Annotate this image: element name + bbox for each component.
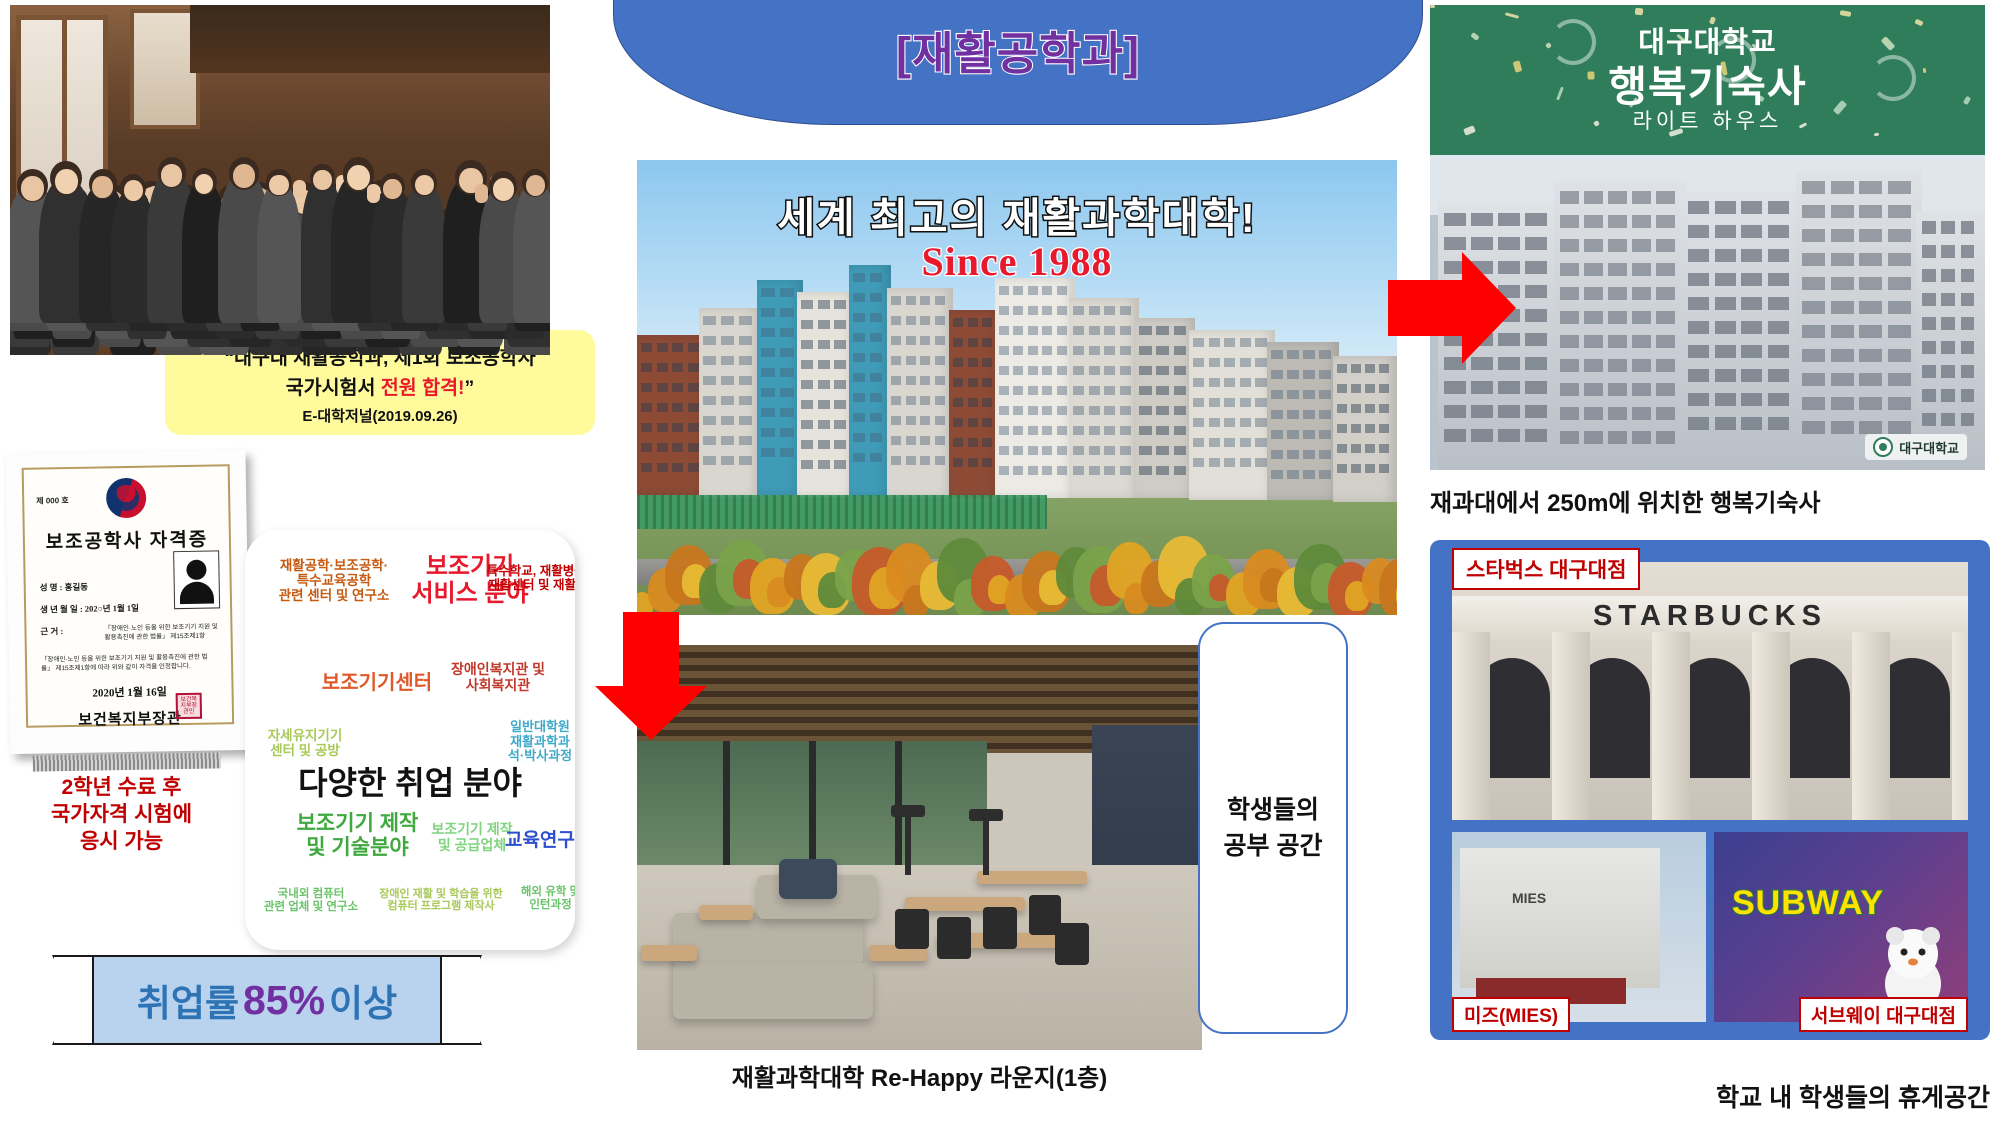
building-window	[853, 393, 865, 402]
word-cloud-center-label: 다양한 취업 분야	[245, 766, 575, 802]
tower-window	[1768, 225, 1789, 238]
tower-window	[1584, 287, 1603, 300]
tower-window	[1560, 263, 1579, 276]
tower-window	[1608, 239, 1627, 252]
storefront-column	[1952, 632, 1968, 820]
building-window	[834, 360, 846, 369]
building-window	[1013, 446, 1023, 455]
lounge-chair	[983, 907, 1017, 949]
building-window	[1028, 366, 1038, 375]
building-window	[1104, 326, 1115, 335]
building-window	[999, 426, 1009, 435]
building-window	[780, 368, 794, 377]
tower-window	[1525, 357, 1547, 370]
building-window	[818, 380, 830, 389]
building-window	[1255, 438, 1266, 447]
tower-window	[1656, 407, 1675, 420]
building-window	[1379, 364, 1389, 373]
tower-window	[1608, 263, 1627, 276]
building-window	[935, 376, 945, 385]
lounge-lamp-shade	[969, 809, 1003, 821]
tower-window	[1525, 429, 1547, 442]
building-window	[906, 316, 916, 325]
tower-window	[1632, 335, 1651, 348]
tower-window	[1608, 335, 1627, 348]
building-window	[853, 373, 865, 382]
tower-window	[1560, 287, 1579, 300]
tower-window	[1961, 293, 1975, 306]
storefront-column	[1552, 632, 1590, 820]
building-window	[1104, 446, 1115, 455]
building-window	[891, 336, 901, 345]
tower-window	[1831, 253, 1854, 266]
building-window	[999, 406, 1009, 415]
building-window	[688, 463, 699, 472]
tower-window	[1831, 277, 1854, 290]
building-window	[853, 333, 865, 342]
building-window	[688, 423, 699, 432]
building-window	[818, 320, 830, 329]
building-window	[1271, 470, 1283, 479]
campus-trees	[637, 495, 1397, 615]
building-window	[1042, 366, 1052, 375]
tower-window	[1922, 293, 1936, 306]
tower-window	[1941, 389, 1955, 402]
building-window	[1156, 426, 1169, 435]
building-window	[968, 458, 978, 467]
tower-window	[1656, 335, 1675, 348]
person-face	[233, 164, 255, 188]
certificate-barcode	[33, 752, 221, 771]
tower-window	[1802, 229, 1825, 242]
building-window	[1013, 366, 1023, 375]
building-window	[1139, 466, 1152, 475]
tower-window	[1859, 301, 1882, 314]
person-head	[229, 157, 259, 189]
building-window	[739, 316, 752, 325]
person-head	[266, 169, 292, 197]
building-window	[1224, 458, 1235, 467]
building-window	[1089, 326, 1100, 335]
building-window	[1255, 338, 1266, 347]
tower-window	[1831, 205, 1854, 218]
tower-window	[1741, 201, 1762, 214]
building-window	[1240, 418, 1251, 427]
building-window	[1042, 306, 1052, 315]
tower-window	[1688, 345, 1709, 358]
tower-window	[1560, 239, 1579, 252]
tower-window	[1802, 205, 1825, 218]
building-window	[657, 343, 668, 352]
study-space-callout: 학생들의 공부 공간	[1198, 622, 1348, 1034]
building-window	[657, 463, 668, 472]
person-face	[124, 180, 143, 201]
tower-window	[1715, 369, 1736, 382]
person-face	[526, 175, 545, 196]
tower-window	[1859, 205, 1882, 218]
tower-window	[1584, 431, 1603, 444]
tower-window	[1941, 365, 1955, 378]
building-window	[999, 326, 1009, 335]
person-head	[17, 169, 48, 202]
building-window	[1209, 398, 1220, 407]
building-window	[721, 456, 734, 465]
building-window	[906, 336, 916, 345]
person-face	[493, 178, 514, 201]
building-window	[870, 413, 882, 422]
person-hand	[367, 184, 380, 203]
person-face	[21, 176, 44, 201]
building-window	[1337, 404, 1347, 413]
building-window	[1209, 458, 1220, 467]
tower-window	[1525, 285, 1547, 298]
building-window	[1337, 444, 1347, 453]
word-cloud-item: 교육연구 분야	[485, 830, 575, 851]
building-window	[1365, 404, 1375, 413]
building-window	[641, 363, 652, 372]
building-window	[1073, 446, 1084, 455]
building-window	[672, 443, 683, 452]
building-window	[1255, 358, 1266, 367]
building-window	[739, 456, 752, 465]
tower-window	[1741, 249, 1762, 262]
tower-window	[1859, 181, 1882, 194]
government-emblem-icon	[106, 478, 147, 519]
building-window	[1057, 366, 1067, 375]
building-window	[870, 453, 882, 462]
tower-window	[1608, 359, 1627, 372]
tower-window	[1498, 237, 1520, 250]
building-window	[1193, 378, 1204, 387]
building-window	[1013, 466, 1023, 475]
building-window	[657, 363, 668, 372]
campus-building	[1267, 342, 1339, 500]
building-window	[1271, 350, 1283, 359]
campus-photo: 세계 최고의 재활과학대학! Since 1988	[637, 160, 1397, 615]
tower-window	[1715, 417, 1736, 430]
building-window	[1156, 446, 1169, 455]
building-window	[739, 376, 752, 385]
building-window	[1042, 386, 1052, 395]
tower-window	[1922, 365, 1936, 378]
tower-window	[1768, 273, 1789, 286]
building-window	[641, 403, 652, 412]
building-window	[953, 338, 963, 347]
building-window	[739, 356, 752, 365]
university-logo-mark-icon	[1873, 437, 1893, 457]
building-window	[1073, 366, 1084, 375]
tower-window	[1584, 335, 1603, 348]
building-window	[1271, 430, 1283, 439]
building-window	[1287, 410, 1299, 419]
building-window	[739, 416, 752, 425]
building-window	[1042, 466, 1052, 475]
tower-window	[1831, 349, 1854, 362]
building-window	[982, 398, 992, 407]
building-window	[891, 296, 901, 305]
tower-window	[1560, 407, 1579, 420]
tower-window	[1715, 297, 1736, 310]
building-window	[1224, 398, 1235, 407]
building-window	[1209, 378, 1220, 387]
news-line-2: 국가시험서 전원 합격!”	[286, 371, 475, 400]
building-window	[982, 458, 992, 467]
tower-window	[1859, 277, 1882, 290]
tower-window	[1859, 349, 1882, 362]
building-window	[1240, 458, 1251, 467]
building-window	[982, 338, 992, 347]
tower-window	[1741, 393, 1762, 406]
building-window	[1057, 306, 1067, 315]
lounge-mullion-1	[723, 741, 730, 871]
building-window	[641, 463, 652, 472]
building-window	[1120, 426, 1131, 435]
building-window	[1224, 418, 1235, 427]
building-window	[1089, 466, 1100, 475]
tower-window	[1688, 201, 1709, 214]
building-window	[834, 400, 846, 409]
building-window	[1120, 406, 1131, 415]
tower-window	[1608, 407, 1627, 420]
person-face	[383, 179, 402, 199]
building-window	[999, 306, 1009, 315]
building-window	[761, 328, 775, 337]
building-window	[1028, 346, 1038, 355]
building-window	[688, 443, 699, 452]
tower-window	[1632, 383, 1651, 396]
building-window	[761, 308, 775, 317]
tower-window	[1741, 225, 1762, 238]
building-window	[1271, 450, 1283, 459]
tower-window	[1608, 191, 1627, 204]
building-window	[780, 428, 794, 437]
lounge-lamp-shade	[891, 805, 925, 817]
tower-window	[1888, 181, 1911, 194]
tower-window	[1741, 321, 1762, 334]
building-window	[1057, 346, 1067, 355]
employment-suffix: 이상	[329, 973, 397, 1027]
tower-window	[1715, 225, 1736, 238]
building-window	[1351, 424, 1361, 433]
confetti-piece	[1430, 5, 1435, 8]
building-window	[1057, 386, 1067, 395]
tower-window	[1525, 309, 1547, 322]
campus-building	[637, 335, 707, 495]
building-window	[1287, 390, 1299, 399]
tower-window	[1888, 373, 1911, 386]
building-window	[641, 343, 652, 352]
building-window	[672, 343, 683, 352]
building-window	[1337, 364, 1347, 373]
building-window	[1193, 458, 1204, 467]
building-window	[1287, 470, 1299, 479]
tower-window	[1560, 311, 1579, 324]
building-window	[1104, 346, 1115, 355]
building-window	[834, 420, 846, 429]
building-window	[906, 376, 916, 385]
building-window	[1224, 358, 1235, 367]
building-window	[968, 398, 978, 407]
building-window	[1319, 350, 1331, 359]
person-hand	[293, 180, 306, 199]
building-window	[1365, 384, 1375, 393]
certificate-caption: 2학년 수료 후 국가자격 시험에 응시 가능	[14, 775, 229, 856]
tower-window	[1632, 191, 1651, 204]
storefront-column	[1752, 632, 1790, 820]
starbucks-wordmark: STARBUCKS	[1452, 600, 1968, 633]
tower-window	[1608, 383, 1627, 396]
person	[513, 183, 550, 323]
building-window	[761, 448, 775, 457]
tower-window	[1888, 277, 1911, 290]
title-banner: [재활공학과]	[613, 0, 1423, 125]
tower-window	[1888, 205, 1911, 218]
certificate-number: 제 000 호	[36, 495, 69, 507]
building-window	[688, 403, 699, 412]
building-window	[780, 328, 794, 337]
building-window	[1139, 366, 1152, 375]
tower-window	[1741, 273, 1762, 286]
building-window	[920, 396, 930, 405]
tower-window	[1608, 431, 1627, 444]
building-window	[891, 396, 901, 405]
person	[257, 183, 301, 323]
building-window	[1104, 406, 1115, 415]
building-window	[721, 336, 734, 345]
building-window	[672, 363, 683, 372]
building-window	[1120, 326, 1131, 335]
tower-window	[1859, 421, 1882, 434]
dormitory-tower	[1682, 191, 1800, 470]
building-window	[1156, 466, 1169, 475]
lounge-sofa	[673, 913, 863, 967]
building-window	[703, 416, 716, 425]
building-window	[920, 376, 930, 385]
building-window	[870, 293, 882, 302]
tower-window	[1632, 287, 1651, 300]
building-window	[906, 396, 916, 405]
tower-window	[1802, 349, 1825, 362]
tower-window	[1961, 221, 1975, 234]
building-window	[721, 416, 734, 425]
tower-window	[1961, 413, 1975, 426]
building-window	[761, 408, 775, 417]
building-window	[953, 318, 963, 327]
news-line-2-highlight: 전원 합격!	[381, 377, 465, 399]
building-window	[853, 433, 865, 442]
tower-window	[1741, 345, 1762, 358]
building-window	[1120, 446, 1131, 455]
building-window	[834, 460, 846, 469]
building-window	[1156, 406, 1169, 415]
building-window	[853, 453, 865, 462]
tower-window	[1715, 201, 1736, 214]
tower-window	[1632, 239, 1651, 252]
building-window	[801, 400, 813, 409]
building-window	[818, 400, 830, 409]
tower-window	[1525, 405, 1547, 418]
building-window	[906, 296, 916, 305]
tower-window	[1632, 311, 1651, 324]
lounge-lamp	[905, 813, 911, 875]
building-window	[1073, 306, 1084, 315]
tower-window	[1632, 407, 1651, 420]
tower-window	[1922, 389, 1936, 402]
building-window	[761, 368, 775, 377]
campus-building	[1135, 318, 1195, 498]
tower-window	[1888, 229, 1911, 242]
dormitory-photo: 대구대학교 행복기숙사 라이트 하우스 대구대학교	[1430, 5, 1985, 470]
building-window	[968, 338, 978, 347]
tower-window	[1741, 417, 1762, 430]
building-window	[870, 333, 882, 342]
tower-window	[1688, 273, 1709, 286]
news-line-2-suffix: ”	[465, 377, 475, 399]
building-window	[953, 418, 963, 427]
tower-window	[1471, 381, 1493, 394]
tower-window	[1715, 321, 1736, 334]
building-window	[1028, 466, 1038, 475]
tower-window	[1584, 191, 1603, 204]
building-window	[1120, 366, 1131, 375]
arrow-right-icon	[1388, 252, 1516, 364]
building-window	[935, 336, 945, 345]
building-window	[870, 433, 882, 442]
tower-window	[1560, 359, 1579, 372]
building-window	[1365, 444, 1375, 453]
tower-window	[1922, 341, 1936, 354]
building-window	[1089, 346, 1100, 355]
tower-window	[1888, 421, 1911, 434]
building-window	[1319, 470, 1331, 479]
building-window	[1351, 444, 1361, 453]
building-window	[1255, 418, 1266, 427]
building-window	[853, 293, 865, 302]
word-cloud-item: 일반대학원 재활과학과 석·박사과정	[485, 720, 575, 764]
person-face	[415, 175, 434, 196]
building-window	[1042, 426, 1052, 435]
tower-window	[1584, 263, 1603, 276]
building-window	[1193, 418, 1204, 427]
lounge-side-table	[699, 905, 753, 920]
building-window	[982, 438, 992, 447]
tower-window	[1802, 253, 1825, 266]
building-window	[801, 380, 813, 389]
tower-window	[1715, 393, 1736, 406]
tower-window	[1768, 297, 1789, 310]
building-window	[920, 356, 930, 365]
university-logo: 대구대학교	[1865, 434, 1967, 460]
certificate-row-basis: 근 거 :	[40, 625, 63, 637]
building-window	[1193, 438, 1204, 447]
building-window	[1156, 346, 1169, 355]
building-window	[1303, 430, 1315, 439]
building-window	[1319, 370, 1331, 379]
building-window	[1319, 450, 1331, 459]
career-word-cloud: 재활공학·보조공학· 특수교육공학 관련 센터 및 연구소보조기기 서비스 분야…	[245, 530, 575, 950]
tower-window	[1471, 237, 1493, 250]
tower-window	[1741, 297, 1762, 310]
building-window	[1042, 346, 1052, 355]
building-window	[818, 460, 830, 469]
lounge-photo	[637, 645, 1202, 1050]
person-face	[92, 176, 112, 198]
building-window	[1240, 438, 1251, 447]
building-window	[1174, 366, 1187, 375]
tower-window	[1859, 325, 1882, 338]
building-window	[1271, 410, 1283, 419]
tower-window	[1584, 383, 1603, 396]
